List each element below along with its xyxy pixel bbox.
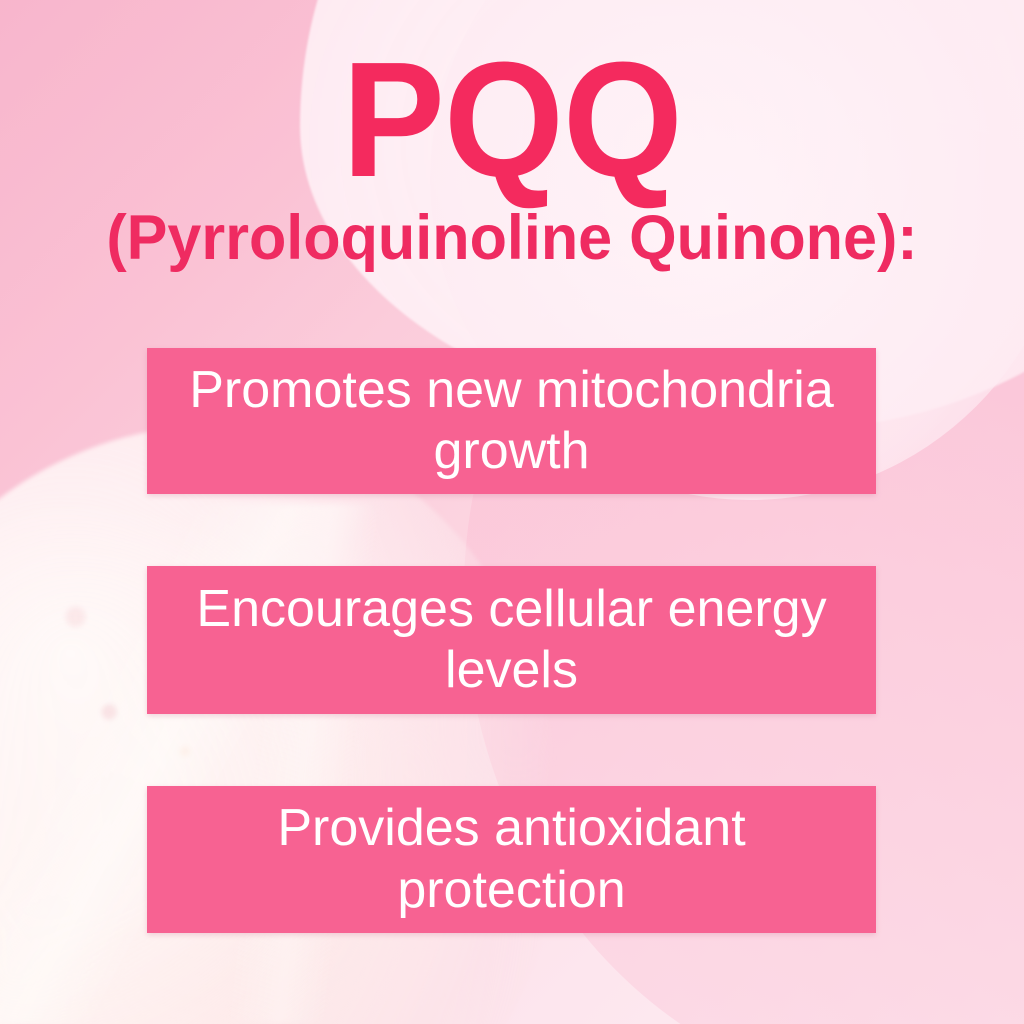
- benefits-list: Promotes new mitochondria growth Encoura…: [147, 348, 876, 933]
- benefit-label-3: Provides antioxidant protection: [165, 798, 858, 921]
- benefit-card-3: Provides antioxidant protection: [147, 786, 876, 933]
- page-title: PQQ: [31, 38, 994, 202]
- benefit-label-1: Promotes new mitochondria growth: [165, 360, 858, 483]
- benefit-card-2: Encourages cellular energy levels: [147, 566, 876, 714]
- benefit-card-1: Promotes new mitochondria growth: [147, 348, 876, 494]
- page-subtitle: (Pyrroloquinoline Quinone):: [15, 207, 1008, 270]
- poster-content: PQQ (Pyrroloquinoline Quinone): Promotes…: [0, 0, 1024, 1024]
- poster-canvas: PQQ (Pyrroloquinoline Quinone): Promotes…: [0, 0, 1024, 1024]
- benefit-label-2: Encourages cellular energy levels: [165, 579, 858, 702]
